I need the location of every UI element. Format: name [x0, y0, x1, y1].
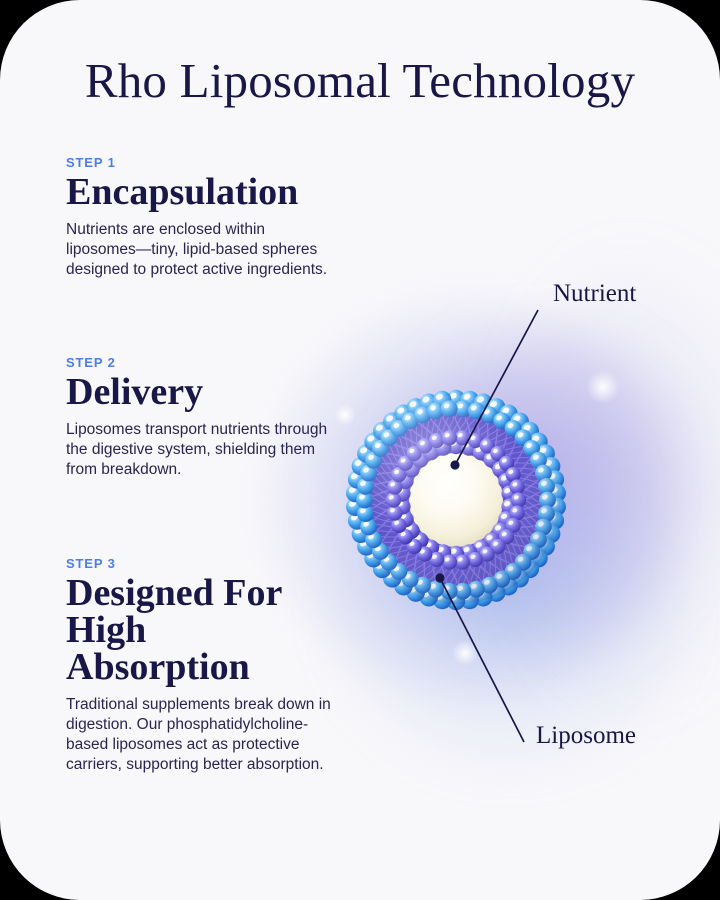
- page-title: Rho Liposomal Technology: [0, 55, 720, 106]
- lipid-head-bead: [510, 479, 525, 494]
- step-2-body: Liposomes transport nutrients through th…: [66, 420, 334, 480]
- callout-label-liposome: Liposome: [536, 722, 636, 750]
- step-3-eyebrow: STEP 3: [66, 556, 334, 571]
- lipid-head-bead: [468, 552, 483, 567]
- lipid-head-bead: [455, 430, 470, 445]
- lipid-head-bead: [442, 430, 457, 445]
- lipid-head-bead: [429, 433, 444, 448]
- sparkle-icon: [586, 370, 620, 404]
- step-3: STEP 3 Designed For High Absorption Trad…: [66, 556, 334, 775]
- step-2: STEP 2 Delivery Liposomes transport nutr…: [66, 355, 334, 480]
- step-1-body: Nutrients are enclosed within liposomes—…: [66, 220, 334, 280]
- step-3-heading: Designed For High Absorption: [66, 575, 334, 686]
- lipid-head-bead: [386, 492, 401, 507]
- step-2-eyebrow: STEP 2: [66, 355, 334, 370]
- step-2-heading: Delivery: [66, 374, 334, 411]
- sparkle-icon: [452, 640, 478, 666]
- lipid-head-bead: [511, 492, 526, 507]
- lipid-head-bead: [455, 555, 470, 570]
- callout-label-nutrient: Nutrient: [553, 280, 636, 308]
- lipid-head-bead: [441, 400, 458, 417]
- lipid-head-bead: [442, 555, 457, 570]
- step-1-eyebrow: STEP 1: [66, 155, 334, 170]
- lipid-head-bead: [387, 505, 402, 520]
- step-3-body: Traditional supplements break down in di…: [66, 695, 336, 775]
- infographic-card: Rho Liposomal Technology STEP 1 Encapsul…: [0, 0, 720, 900]
- step-1: STEP 1 Encapsulation Nutrients are enclo…: [66, 155, 334, 280]
- step-1-heading: Encapsulation: [66, 174, 334, 211]
- liposome-illustration: [340, 384, 572, 616]
